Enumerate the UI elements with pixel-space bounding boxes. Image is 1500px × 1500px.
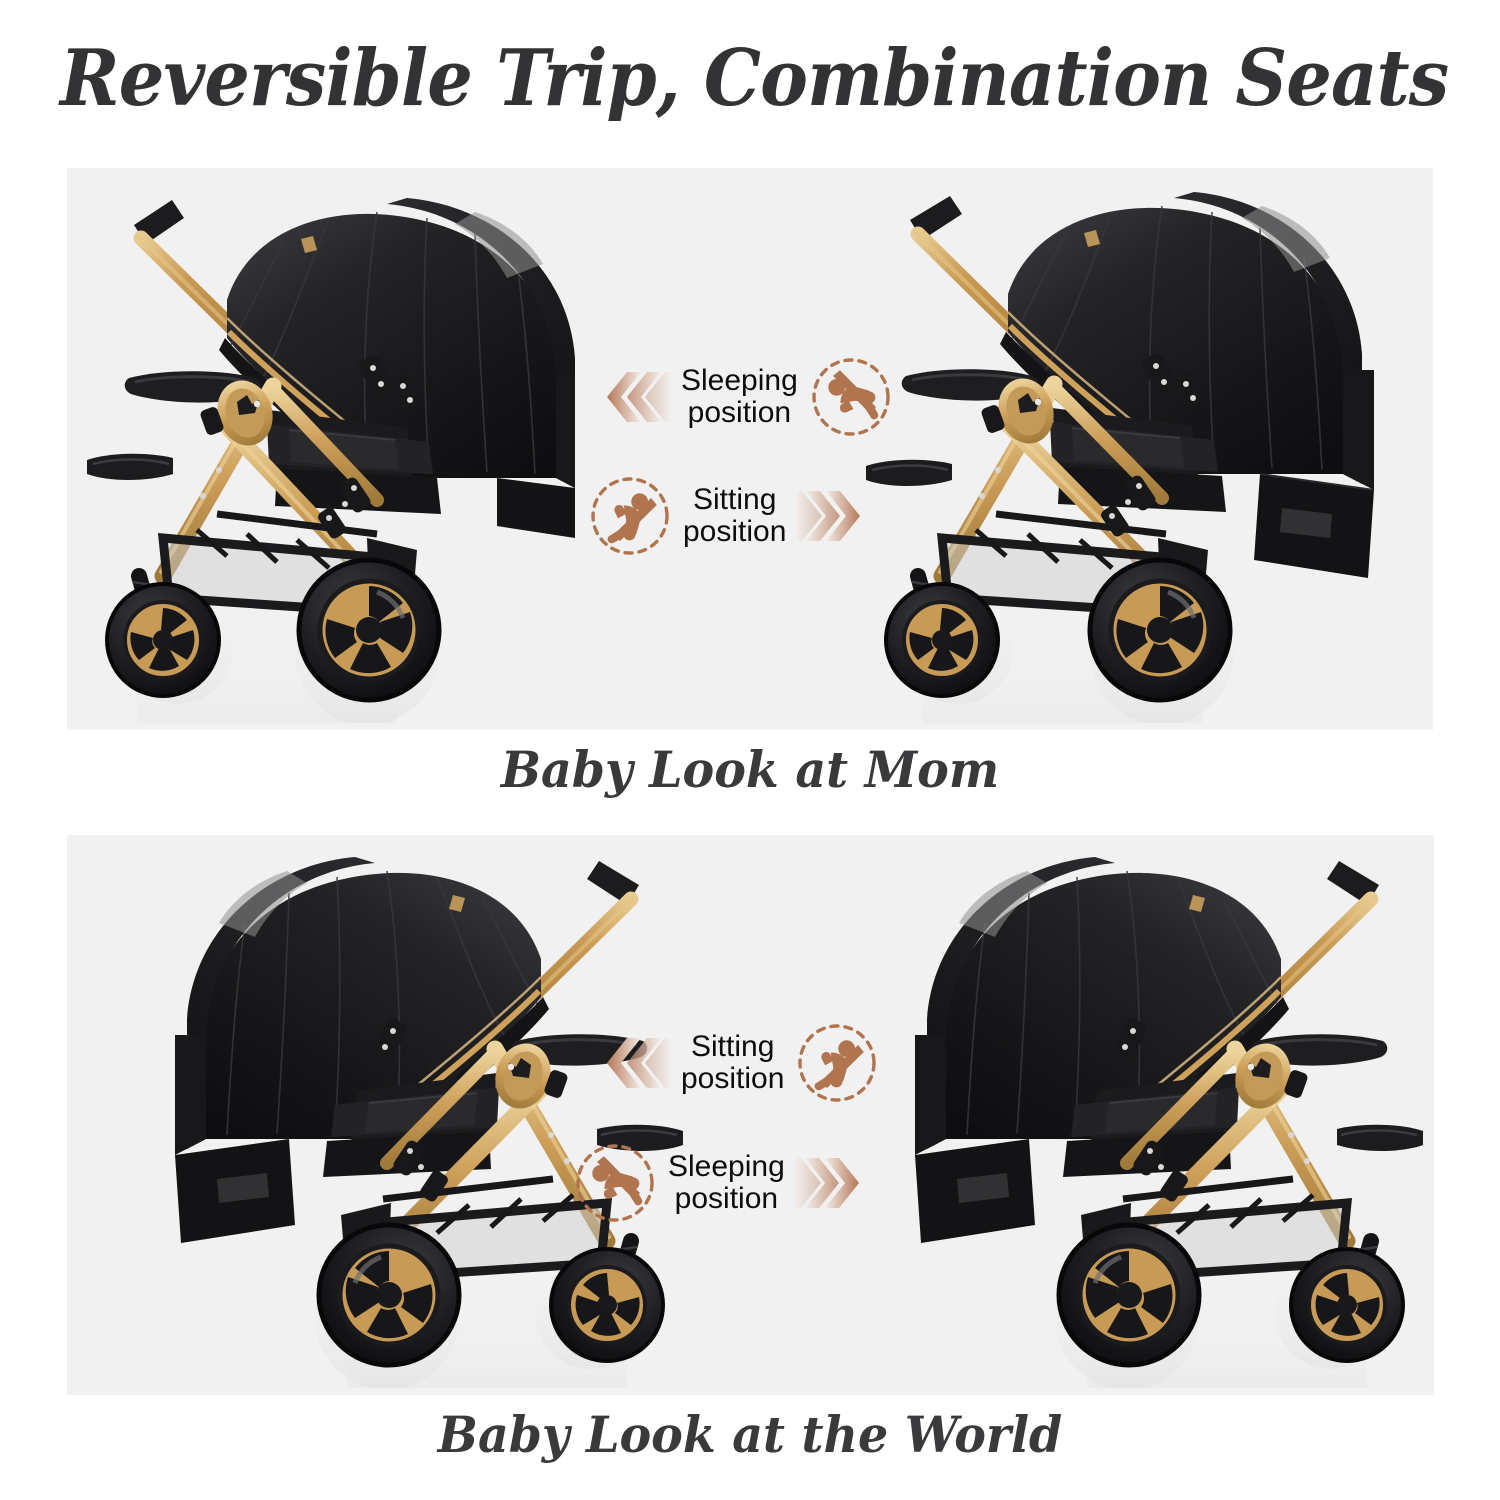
stroller-top-right [862,178,1422,723]
panel-baby-look-at-world: Sitting position [67,835,1434,1395]
rear-wheel [319,1225,459,1365]
annotation-label-sleeping: Sleeping position [681,365,798,430]
annotation-sleeping-top: Sleeping position [603,354,894,440]
footrest [87,454,173,480]
annotation-label-sleeping: Sleeping position [668,1151,785,1216]
front-wheel [551,1249,663,1361]
annotation-sleeping-bottom: Sleeping position [572,1140,863,1226]
chevron-left-icon [603,1034,671,1092]
caption-baby-look-at-mom: Baby Look at Mom [38,740,1463,799]
rear-wheel [1059,1225,1199,1365]
sitting-position-icon [587,473,673,559]
footrest [1337,1125,1423,1151]
stroller-bottom-right [867,843,1427,1388]
front-wheel [886,584,998,696]
page-title: Reversible Trip, Combination Seats [60,40,1440,118]
annotation-label-sitting: Sitting position [683,484,786,549]
sitting-position-icon [794,1020,880,1106]
rear-wheel [299,560,439,700]
sleeping-position-icon [808,354,894,440]
annotation-label-sitting: Sitting position [681,1031,784,1096]
panel-baby-look-at-mom: Sleeping position [67,168,1433,730]
chevron-left-icon [603,368,671,426]
chevron-right-icon [795,1154,863,1212]
chevron-right-icon [796,487,864,545]
footrest [866,460,952,486]
stroller-top-left [77,178,597,723]
front-wheel [107,584,219,696]
infographic-page: Reversible Trip, Combination Seats [0,0,1500,1500]
caption-baby-look-at-world: Baby Look at the World [38,1405,1463,1464]
front-wheel [1291,1249,1403,1361]
stroller-bottom-left [127,843,687,1388]
sleeping-position-icon [572,1140,658,1226]
rear-wheel [1090,560,1230,700]
annotation-sitting-bottom: Sitting position [603,1020,880,1106]
annotation-sitting-top: Sitting position [587,473,864,559]
